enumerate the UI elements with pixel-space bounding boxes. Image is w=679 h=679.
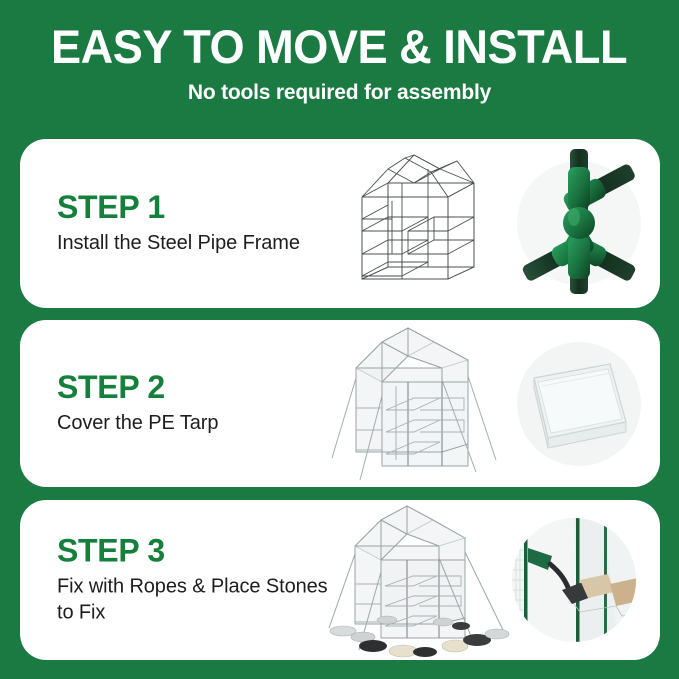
step-1-description: Install the Steel Pipe Frame	[57, 231, 347, 257]
step-1-text-block: STEP 1 Install the Steel Pipe Frame	[57, 191, 347, 257]
step-3-title: STEP 3	[57, 534, 347, 566]
four-way-pipe-connector-illustration	[498, 139, 660, 308]
greenhouse-covered-with-tarp-illustration	[330, 320, 510, 487]
step-card-1: STEP 1 Install the Steel Pipe Frame	[20, 139, 660, 308]
step-2-title: STEP 2	[57, 371, 347, 403]
step-2-description: Cover the PE Tarp	[57, 411, 347, 437]
greenhouse-frame-wireframe-illustration	[340, 139, 500, 308]
step-3-text-block: STEP 3 Fix with Ropes & Place Stones to …	[57, 534, 347, 625]
step-2-text-block: STEP 2 Cover the PE Tarp	[57, 371, 347, 437]
step-card-2: STEP 2 Cover the PE Tarp	[20, 320, 660, 487]
page-title: EASY TO MOVE & INSTALL	[51, 22, 627, 71]
folded-pe-tarp-sheet-illustration	[498, 320, 660, 487]
step-3-description: Fix with Ropes & Place Stones to Fix	[57, 574, 347, 625]
header-banner: EASY TO MOVE & INSTALL No tools required…	[0, 0, 679, 128]
step-1-title: STEP 1	[57, 191, 347, 223]
rope-and-stone-closeup-illustration	[488, 500, 660, 660]
step-card-3: STEP 3 Fix with Ropes & Place Stones to …	[20, 500, 660, 660]
page-subtitle: No tools required for assembly	[188, 81, 491, 105]
